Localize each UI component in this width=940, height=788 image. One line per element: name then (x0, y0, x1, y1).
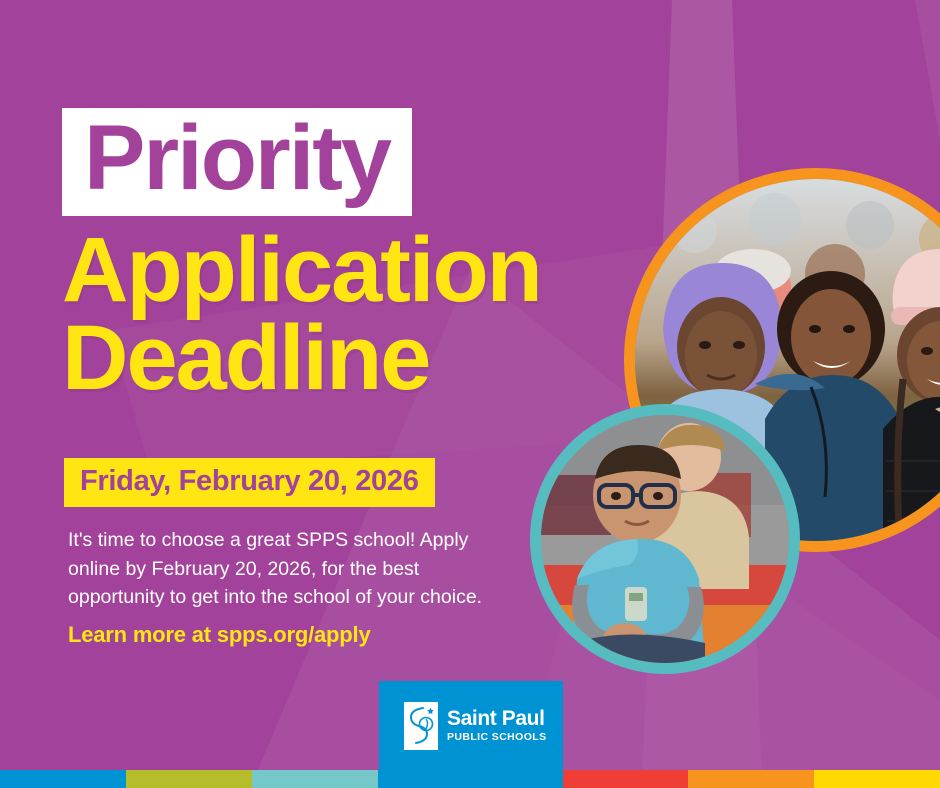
headline-line-application: Application (62, 224, 682, 318)
poster-canvas: Priority Application Deadline Friday, Fe… (0, 0, 940, 788)
headline-block: Priority Application Deadline (62, 108, 682, 406)
logo-mark-svg (404, 702, 438, 750)
priority-white-box: Priority (62, 108, 412, 216)
deadline-date-wrap: Friday, February 20, 2026 (64, 458, 435, 507)
logo-title: Saint Paul (447, 708, 547, 729)
color-bar-segment-teal (252, 770, 378, 788)
color-bar-segment-blue-wide (378, 770, 563, 788)
color-bar-segment-blue (0, 770, 126, 788)
color-bar-segment-yellow (814, 770, 940, 788)
photo-student-with-glasses-classroom (530, 404, 800, 674)
logo-subtitle: PUBLIC SCHOOLS (447, 732, 547, 743)
spps-swoosh-figure-logo-icon (404, 702, 438, 750)
body-paragraph: It's time to choose a great SPPS school!… (68, 526, 498, 612)
bottom-color-bar (0, 770, 940, 788)
spps-logo-wordmark: Saint Paul PUBLIC SCHOOLS (447, 708, 547, 743)
color-bar-segment-olive (126, 770, 252, 788)
color-bar-segment-red (563, 770, 688, 788)
learn-more-link[interactable]: Learn more at spps.org/apply (68, 622, 370, 648)
photo-illustration-boy (541, 415, 789, 663)
spps-logo-box: Saint Paul PUBLIC SCHOOLS (379, 681, 563, 770)
headline-line-deadline: Deadline (62, 312, 682, 406)
color-bar-segment-orange (688, 770, 814, 788)
headline-line-priority: Priority (84, 114, 390, 202)
deadline-date-badge: Friday, February 20, 2026 (64, 458, 435, 507)
